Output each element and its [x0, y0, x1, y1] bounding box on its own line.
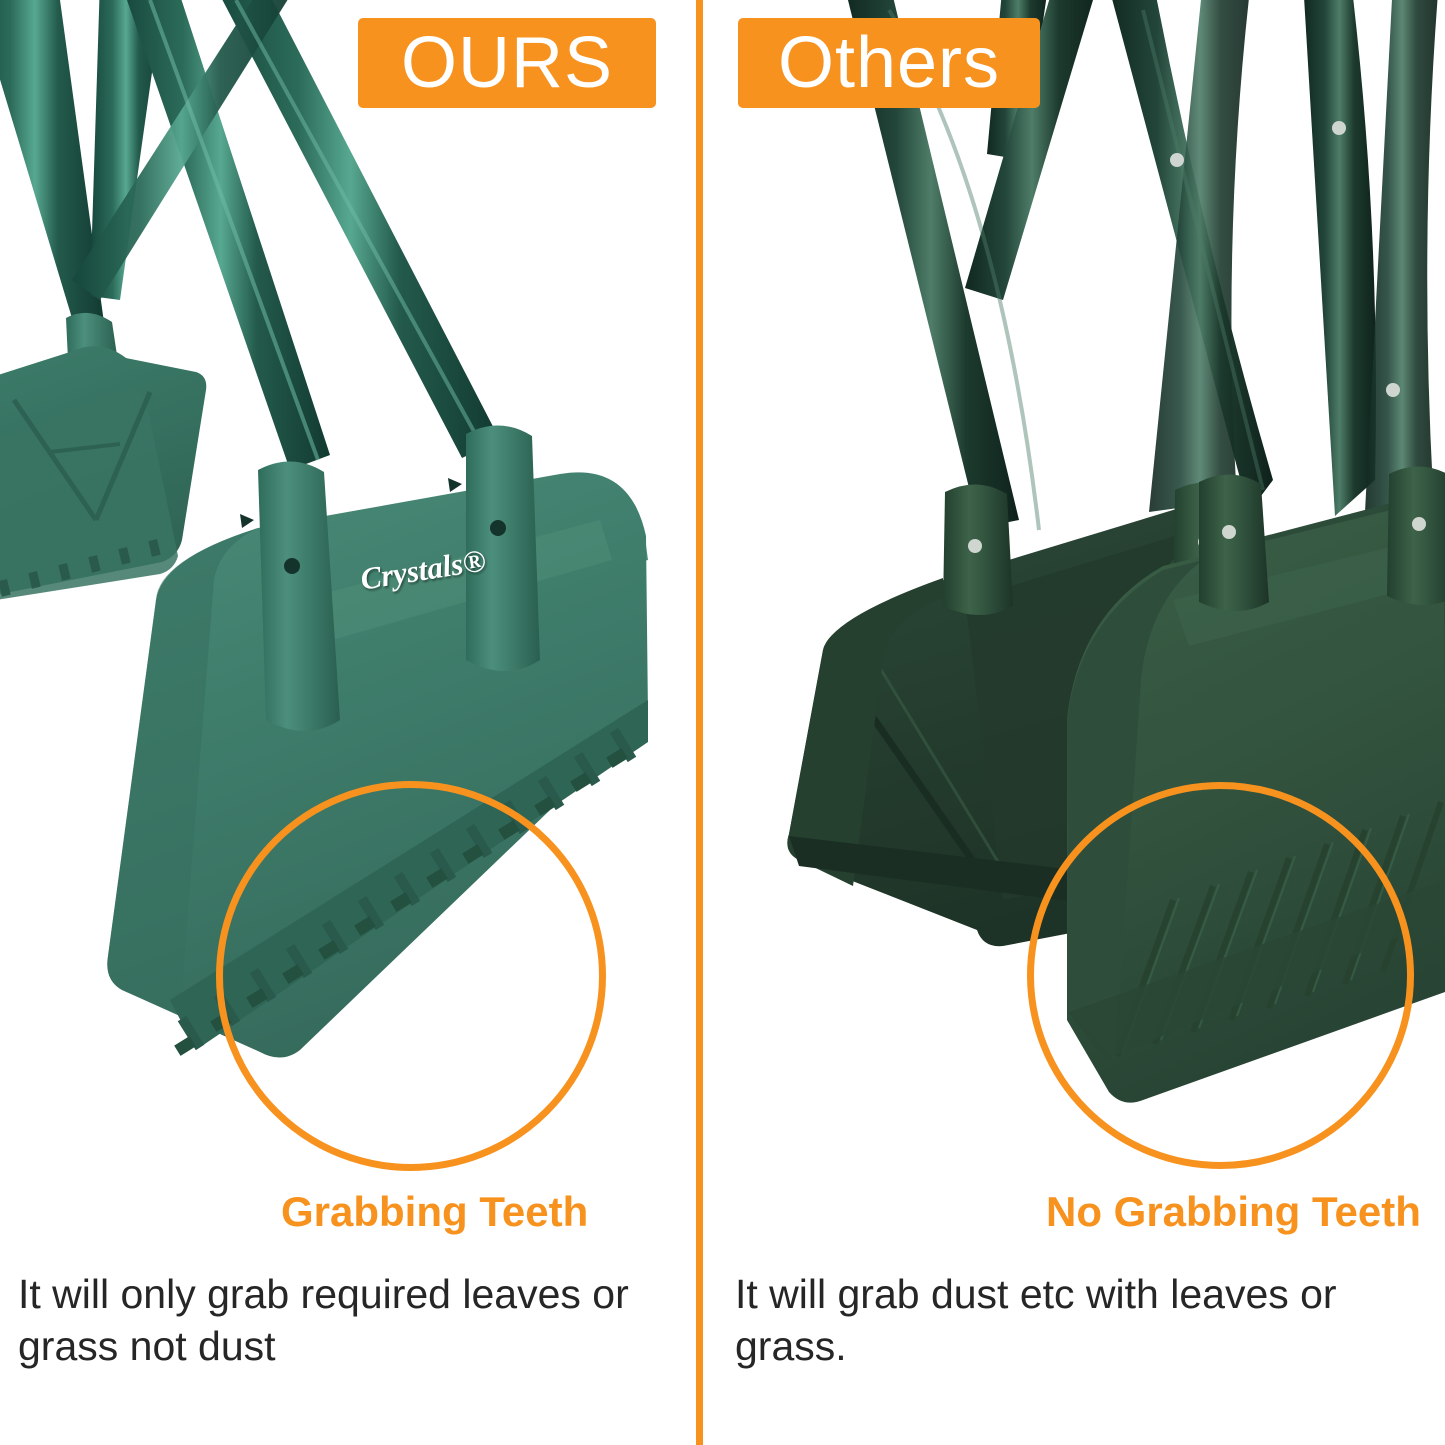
highlight-circle-others: [1027, 782, 1414, 1169]
feature-label-ours: Grabbing Teeth: [281, 1188, 588, 1236]
feature-label-others: No Grabbing Teeth: [1046, 1188, 1421, 1236]
front-socket-b: [1387, 466, 1445, 605]
comparison-infographic: Crystals®: [0, 0, 1445, 1445]
panel-divider: [696, 0, 703, 1445]
front-socket-a: [1199, 474, 1269, 611]
highlight-circle-ours: [216, 781, 606, 1171]
caption-others: It will grab dust etc with leaves or gra…: [735, 1268, 1435, 1373]
badge-others: Others: [738, 18, 1040, 108]
rear-socket: [943, 484, 1013, 615]
caption-ours: It will only grab required leaves or gra…: [18, 1268, 683, 1373]
badge-ours: OURS: [358, 18, 656, 108]
